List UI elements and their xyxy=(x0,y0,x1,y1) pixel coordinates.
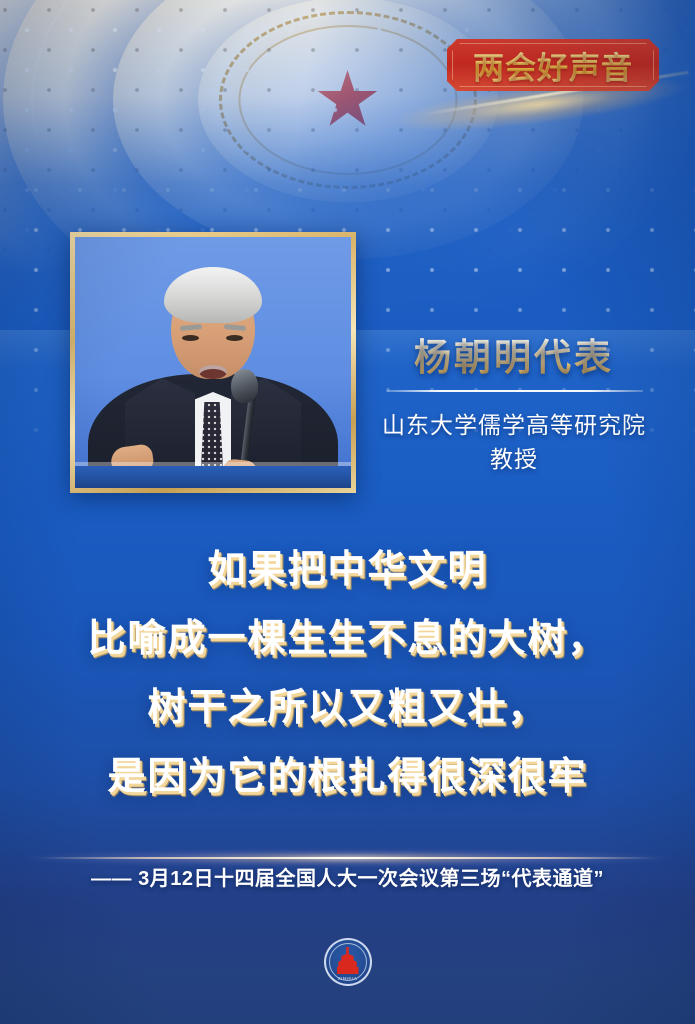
speaker-affiliation: 山东大学儒学高等研究院 教授 xyxy=(368,408,660,476)
program-badge: 两会好声音 xyxy=(447,39,659,91)
speaker-name: 杨朝明代表 xyxy=(374,327,654,381)
eye-right xyxy=(226,335,243,341)
quote-line: 是因为它的根扎得很深很牢 xyxy=(0,743,695,812)
hair-shape xyxy=(164,267,262,323)
logo-wordmark: XINHUA xyxy=(324,976,372,981)
speaker-photo xyxy=(75,237,351,488)
eye-left xyxy=(182,335,199,341)
quote-line: 如果把中华文明 xyxy=(0,536,695,605)
affiliation-line-2: 教授 xyxy=(368,442,660,476)
microphone-head-icon xyxy=(231,369,258,403)
quote-block: 如果把中华文明 比喻成一棵生生不息的大树， 树干之所以又粗又壮， 是因为它的根扎… xyxy=(0,536,695,812)
name-divider-rule xyxy=(387,390,643,392)
attribution-text: —— 3月12日十四届全国人大一次会议第三场“代表通道” xyxy=(0,862,695,891)
xinhua-logo-icon: XINHUA xyxy=(324,938,372,986)
podium-band xyxy=(75,466,351,488)
mouth-shape xyxy=(199,365,227,379)
portrait-frame xyxy=(70,232,356,493)
news-quote-poster: 两会好声音 杨朝明代表 山东大学儒学高等研究院 教授 xyxy=(0,0,695,1024)
affiliation-line-1: 山东大学儒学高等研究院 xyxy=(368,408,660,442)
quote-line: 比喻成一棵生生不息的大树， xyxy=(0,605,695,674)
badge-label: 两会好声音 xyxy=(473,43,633,88)
quote-line: 树干之所以又粗又壮， xyxy=(0,674,695,743)
divider-line xyxy=(38,857,658,859)
